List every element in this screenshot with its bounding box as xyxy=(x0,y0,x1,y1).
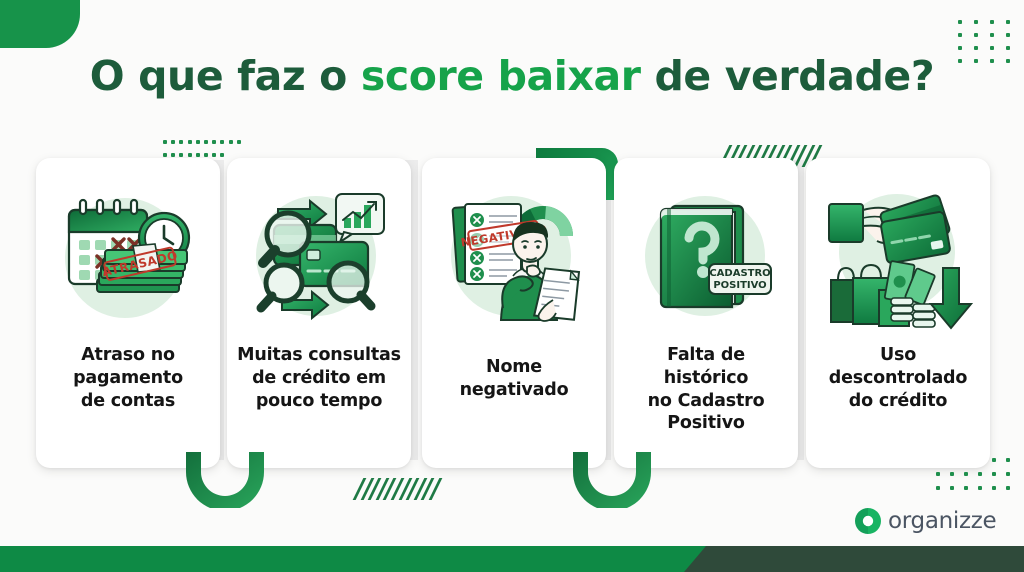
card-label-line: pagamento xyxy=(73,368,183,388)
title-part-1: O que faz o xyxy=(90,52,361,100)
card-label: Falta de histórico no Cadastro Positivo xyxy=(622,344,790,435)
hand-credit-cards-shopping-icon xyxy=(823,180,973,330)
organizze-circle-logo-icon xyxy=(855,508,881,534)
brand-name: organizze xyxy=(888,508,996,534)
card-label: Atraso no pagamento de contas xyxy=(44,344,212,412)
dot-grid-bottom-right-icon xyxy=(936,458,1020,508)
magnifier-credit-card-chart-icon xyxy=(244,180,394,330)
corner-blob-decoration xyxy=(0,0,80,48)
brand-logo[interactable]: organizze xyxy=(855,508,996,534)
hook-bottom-card4-icon xyxy=(573,452,651,508)
hook-bottom-card2-icon xyxy=(186,452,264,508)
negative-document-worried-person-icon: NEGATIVADO xyxy=(439,180,589,330)
card-label-line: descontrolado xyxy=(829,368,967,388)
footer-bar-dark-segment xyxy=(684,546,1024,572)
tag-line-1: CADASTRO xyxy=(709,268,770,279)
card-label-line: Muitas consultas xyxy=(237,345,401,365)
hatch-lines-bottom-icon xyxy=(358,478,444,502)
card-label-line: Atraso no xyxy=(81,345,175,365)
card-label: Muitas consultas de crédito em pouco tem… xyxy=(235,344,403,412)
card-label-line: pouco tempo xyxy=(256,391,382,411)
infographic-canvas: O que faz o score baixar de verdade? xyxy=(0,0,1024,572)
page-title: O que faz o score baixar de verdade? xyxy=(0,52,1024,100)
book-question-mark-icon: CADASTRO POSITIVO xyxy=(631,180,781,330)
card-label-line: Falta de histórico xyxy=(664,345,749,388)
title-highlight: score baixar xyxy=(361,52,641,100)
card-label-line: do crédito xyxy=(849,391,947,411)
card-uso-descontrolado[interactable]: Uso descontrolado do crédito xyxy=(806,158,990,468)
card-atraso-pagamento[interactable]: ATRASADO Atraso no pagamento de contas xyxy=(36,158,220,468)
card-label: Uso descontrolado do crédito xyxy=(814,344,982,412)
card-label-line: Positivo xyxy=(667,413,744,433)
tag-line-2: POSITIVO xyxy=(713,280,766,291)
card-label-line: negativado xyxy=(460,380,569,400)
card-nome-negativado[interactable]: NEGATIVADO xyxy=(422,158,606,468)
card-muitas-consultas[interactable]: Muitas consultas de crédito em pouco tem… xyxy=(227,158,411,468)
card-label: Nome negativado xyxy=(430,356,598,402)
card-label-line: de contas xyxy=(81,391,175,411)
card-label-line: de crédito em xyxy=(252,368,386,388)
title-part-2: de verdade? xyxy=(641,52,935,100)
card-label-line: Uso xyxy=(880,345,916,365)
card-label-line: Nome xyxy=(486,357,542,377)
card-falta-historico[interactable]: CADASTRO POSITIVO Falta de histórico no … xyxy=(614,158,798,468)
calendar-clock-money-late-icon: ATRASADO xyxy=(53,180,203,330)
card-label-line: no Cadastro xyxy=(648,391,765,411)
